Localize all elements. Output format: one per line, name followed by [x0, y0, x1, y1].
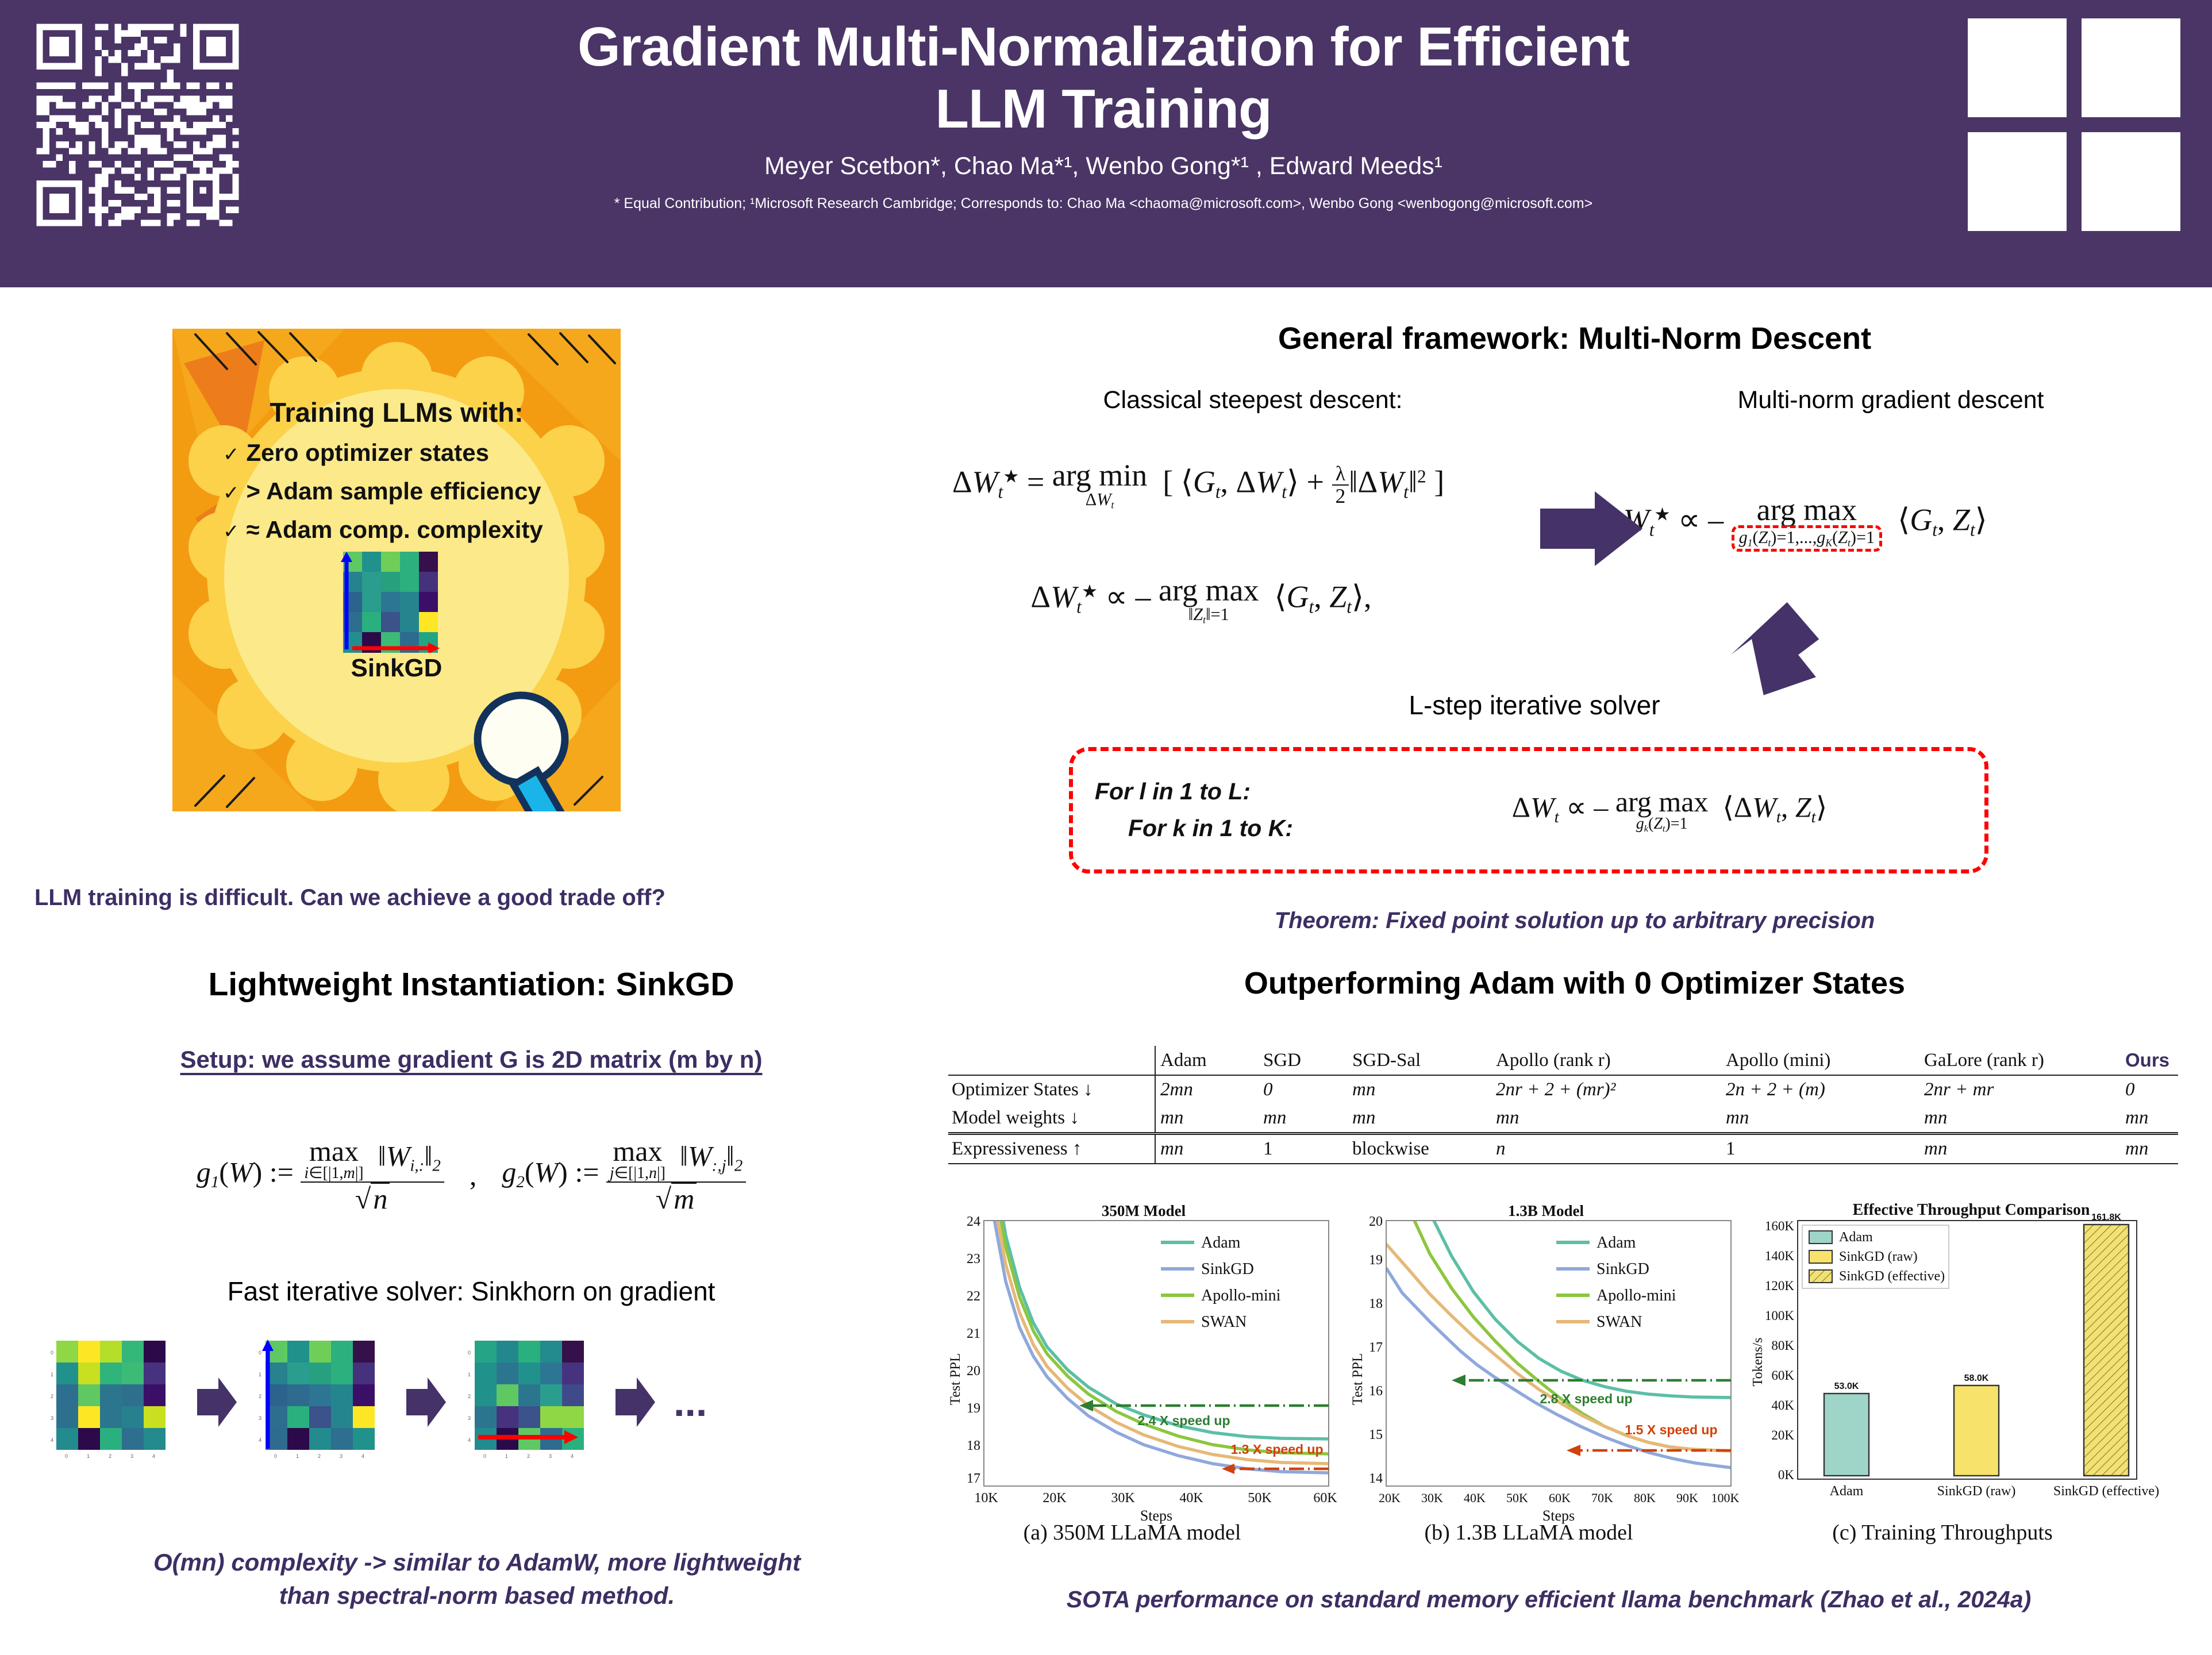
- svg-text:3: 3: [130, 1453, 133, 1459]
- bar-value-sinkgd-effective: 161.8K: [2091, 1213, 2121, 1222]
- cell: mn: [1348, 1104, 1491, 1134]
- svg-text:1: 1: [87, 1453, 90, 1459]
- svg-text:17: 17: [967, 1471, 980, 1486]
- svg-text:0: 0: [468, 1350, 471, 1356]
- logo-square-4: [2082, 132, 2180, 231]
- svg-text:0: 0: [259, 1350, 261, 1356]
- table-header-row: Adam SGD SGD-Sal Apollo (rank r) Apollo …: [948, 1046, 2178, 1075]
- lightweight-section-heading: Lightweight Instantiation: SinkGD: [69, 965, 874, 1003]
- lstep-for-l-label: For l in 1 to L:: [1095, 773, 1376, 810]
- svg-text:4: 4: [51, 1437, 53, 1443]
- sinkgd-caption: SinkGD: [351, 654, 443, 683]
- svg-text:16: 16: [1369, 1384, 1383, 1399]
- comparison-table: Adam SGD SGD-Sal Apollo (rank r) Apollo …: [948, 1046, 2178, 1164]
- svg-text:Apollo-mini: Apollo-mini: [1597, 1287, 1676, 1304]
- row-label-optimizer-states: Optimizer States ↓: [948, 1075, 1155, 1104]
- cell: mn: [1919, 1104, 2121, 1134]
- qr-code-icon[interactable]: [30, 17, 245, 233]
- svg-text:2: 2: [51, 1394, 53, 1399]
- equation-classical-argmax: ΔWt★ ∝ – arg max‖Zt‖=1 ⟨Gt, Zt⟩,: [885, 575, 1517, 625]
- lstep-for-k-label: For k in 1 to K:: [1095, 810, 1376, 847]
- svg-text:160K: 160K: [1765, 1219, 1795, 1233]
- svg-text:SinkGD: SinkGD: [1201, 1260, 1254, 1278]
- cell: mn: [1348, 1075, 1491, 1104]
- svg-text:40K: 40K: [1179, 1491, 1203, 1506]
- series-swan: [1387, 1245, 1731, 1451]
- formula-separator: ,: [470, 1158, 477, 1192]
- g-definitions: g1(W) := maxi∈[|1,m|] ‖Wi,:‖2 √n , g2(W)…: [40, 1109, 902, 1241]
- framework-section-heading: General framework: Multi-Norm Descent: [942, 321, 2207, 356]
- th-galore: GaLore (rank r): [1919, 1046, 2121, 1075]
- series-adam: [1387, 1201, 1731, 1398]
- svg-text:SWAN: SWAN: [1201, 1313, 1247, 1331]
- title-line-1: Gradient Multi-Normalization for Efficie…: [276, 16, 1931, 78]
- theorem-note: Theorem: Fixed point solution up to arbi…: [942, 908, 2207, 934]
- bar-sinkgd-raw: [1954, 1385, 1999, 1476]
- matrix-heatmap-svg: [338, 552, 455, 653]
- title-block: Gradient Multi-Normalization for Efficie…: [276, 6, 1931, 212]
- svg-text:70K: 70K: [1591, 1491, 1613, 1505]
- svg-text:2.4 X speed up: 2.4 X speed up: [1137, 1413, 1230, 1428]
- arrow-right-icon: [613, 1371, 657, 1434]
- comic-bullet-2: ✓> Adam sample efficiency: [213, 478, 580, 505]
- svg-text:2: 2: [468, 1394, 471, 1399]
- svg-text:20K: 20K: [1771, 1428, 1794, 1442]
- g1-formula: g1(W) := maxi∈[|1,m|] ‖Wi,:‖2 √n: [197, 1137, 444, 1214]
- svg-text:SinkGD: SinkGD: [1597, 1260, 1649, 1278]
- svg-text:100K: 100K: [1765, 1308, 1795, 1323]
- svg-text:2: 2: [527, 1453, 530, 1459]
- th-apollo-mini: Apollo (mini): [1721, 1046, 1919, 1075]
- arrow-right-icon: [194, 1371, 239, 1434]
- table-row: Model weights ↓ mn mn mn mn mn mn mn: [948, 1104, 2178, 1134]
- cell: mn: [1155, 1134, 1259, 1164]
- svg-text:15: 15: [1369, 1427, 1383, 1442]
- heatmap-step-1: 012 34 012 34: [46, 1336, 178, 1468]
- svg-text:40K: 40K: [1464, 1491, 1486, 1505]
- cell: 2mn: [1155, 1075, 1259, 1104]
- svg-text:60K: 60K: [1313, 1491, 1337, 1506]
- svg-text:Apollo-mini: Apollo-mini: [1201, 1287, 1281, 1304]
- th-blank: [948, 1046, 1155, 1075]
- svg-text:2: 2: [259, 1394, 261, 1399]
- figure-caption-a: (a) 350M LLaMA model: [971, 1520, 1293, 1545]
- svg-text:22: 22: [967, 1289, 980, 1304]
- cell: blockwise: [1348, 1134, 1491, 1164]
- lstep-solver-box: For l in 1 to L: For k in 1 to K: ΔWt ∝ …: [1069, 747, 1988, 873]
- lstep-equation: ΔWt ∝ – arg maxgk(Zt)=1 ⟨ΔWt, Zt⟩: [1376, 787, 1963, 833]
- affiliation-note: * Equal Contribution; ¹Microsoft Researc…: [276, 195, 1931, 212]
- svg-text:2: 2: [109, 1453, 111, 1459]
- row-label-expressiveness: Expressiveness ↑: [948, 1134, 1155, 1164]
- svg-text:19: 19: [1369, 1253, 1383, 1268]
- svg-text:4: 4: [468, 1437, 471, 1443]
- svg-text:1: 1: [259, 1372, 261, 1377]
- cell: mn: [1721, 1104, 1919, 1134]
- equation-multinorm: ΔWt★ ∝ – arg max g1(Zt)=1,...,gK(Zt)=1 ⟨…: [1603, 494, 2212, 552]
- lstep-solver-label: L-step iterative solver: [1092, 690, 1977, 721]
- svg-text:2: 2: [318, 1453, 321, 1459]
- comic-bullet-3: ✓≈ Adam comp. complexity: [213, 516, 580, 544]
- chart-title: 1.3B Model: [1508, 1202, 1584, 1219]
- cell: 0: [1259, 1075, 1348, 1104]
- left-question-text: LLM training is difficult. Can we achiev…: [34, 885, 931, 911]
- cell: mn: [1155, 1104, 1259, 1134]
- heatmap-step-2: 012 34 012 34: [255, 1336, 387, 1468]
- sinkhorn-iteration-strip: 012 34 012 34: [46, 1333, 897, 1471]
- magnifying-glass-icon: [461, 688, 587, 811]
- comic-bullet-1: ✓Zero optimizer states: [213, 439, 580, 467]
- svg-text:24: 24: [967, 1214, 980, 1229]
- svg-text:90K: 90K: [1676, 1491, 1698, 1505]
- figure-caption-b: (b) 1.3B LLaMA model: [1368, 1520, 1690, 1545]
- table-body: Optimizer States ↓ 2mn 0 mn 2nr + 2 + (m…: [948, 1075, 2178, 1164]
- svg-text:0K: 0K: [1778, 1468, 1795, 1482]
- svg-text:SinkGD (raw): SinkGD (raw): [1839, 1249, 1918, 1264]
- svg-text:Adam: Adam: [1201, 1234, 1241, 1252]
- svg-text:4: 4: [571, 1453, 574, 1459]
- svg-text:SWAN: SWAN: [1597, 1313, 1642, 1331]
- svg-text:23: 23: [967, 1252, 980, 1267]
- poster-header: Gradient Multi-Normalization for Efficie…: [0, 0, 2212, 287]
- svg-text:3: 3: [259, 1415, 261, 1421]
- multinorm-descent-label: Multi-norm gradient descent: [1586, 386, 2195, 414]
- svg-text:4: 4: [361, 1453, 364, 1459]
- page-title: Gradient Multi-Normalization for Efficie…: [276, 6, 1931, 140]
- th-sgd-sal: SGD-Sal: [1348, 1046, 1491, 1075]
- table-head: Adam SGD SGD-Sal Apollo (rank r) Apollo …: [948, 1046, 2178, 1075]
- svg-text:1: 1: [296, 1453, 299, 1459]
- cell: 0: [2121, 1075, 2178, 1104]
- svg-text:19: 19: [967, 1401, 980, 1416]
- fast-solver-label: Fast iterative solver: Sinkhorn on gradi…: [40, 1276, 902, 1307]
- svg-text:SinkGD (effective): SinkGD (effective): [1839, 1269, 1945, 1284]
- svg-text:60K: 60K: [1771, 1368, 1794, 1383]
- svg-text:30K: 30K: [1111, 1491, 1135, 1506]
- equation-classical-steepest: ΔWt★ = arg minΔWt [ ⟨Gt, ΔWt⟩ + λ2‖ΔWt‖2…: [828, 460, 1569, 510]
- microsoft-logo-icon: [1968, 18, 2180, 231]
- svg-text:60K: 60K: [1549, 1491, 1571, 1505]
- svg-text:0: 0: [274, 1453, 277, 1459]
- author-list: Meyer Scetbon*, Chao Ma*¹, Wenbo Gong*¹ …: [276, 152, 1931, 180]
- cell: 2nr + 2 + (mr)²: [1491, 1075, 1721, 1104]
- figure-caption-c: (c) Training Throughputs: [1759, 1520, 2126, 1545]
- x-tick-sinkgd-effective: SinkGD (effective): [2053, 1484, 2159, 1499]
- comic-bullet-1-label: Zero optimizer states: [247, 439, 489, 466]
- cell: 2nr + mr: [1919, 1075, 2121, 1104]
- annotation-2-8x: 2.8 X speed up: [1452, 1375, 1731, 1406]
- svg-text:17: 17: [1369, 1340, 1383, 1355]
- svg-text:0: 0: [65, 1453, 68, 1459]
- svg-text:80K: 80K: [1771, 1338, 1794, 1353]
- svg-text:1: 1: [468, 1372, 471, 1377]
- th-apollo-rank: Apollo (rank r): [1491, 1046, 1721, 1075]
- arrow-right-icon: [403, 1371, 448, 1434]
- check-icon: ✓: [223, 444, 247, 465]
- svg-text:20K: 20K: [1379, 1491, 1401, 1505]
- complexity-line-2: than spectral-norm based method.: [23, 1579, 931, 1612]
- qr-code-svg: [30, 17, 245, 233]
- title-line-2: LLM Training: [276, 78, 1931, 140]
- comic-callout-panel: Training LLMs with: ✓Zero optimizer stat…: [172, 329, 621, 811]
- svg-text:21: 21: [967, 1326, 980, 1341]
- svg-text:14: 14: [1369, 1471, 1383, 1486]
- heatmap-step-3: 012 34 012 34: [464, 1336, 597, 1468]
- setup-note: Setup: we assume gradient G is 2D matrix…: [46, 1046, 897, 1073]
- chart-effective-throughput: Effective Throughput Comparison 160K140K…: [1741, 1201, 2201, 1546]
- chart-legend: Adam SinkGD Apollo-mini SWAN: [1556, 1234, 1676, 1331]
- chart-350m-model: 350M Model 242322 212019 1817 Test PPL 1…: [942, 1201, 1345, 1540]
- th-sgd: SGD: [1259, 1046, 1348, 1075]
- x-tick-sinkgd-raw: SinkGD (raw): [1937, 1484, 2016, 1499]
- cell: 1: [1259, 1134, 1348, 1164]
- svg-text:3: 3: [340, 1453, 343, 1459]
- svg-text:20K: 20K: [1042, 1491, 1067, 1506]
- svg-text:1: 1: [51, 1372, 53, 1377]
- comic-heading: Training LLMs with:: [270, 397, 523, 428]
- logo-square-2: [2082, 18, 2180, 117]
- svg-text:18: 18: [1369, 1296, 1383, 1311]
- series-adam: [984, 1201, 1329, 1439]
- chart-title: Effective Throughput Comparison: [1853, 1201, 2090, 1219]
- cell: mn: [2121, 1104, 2178, 1134]
- comic-bullet-3-label: ≈ Adam comp. complexity: [247, 516, 543, 543]
- g2-formula: g2(W) := maxj∈[|1,n|] ‖W:,j‖2 √m: [502, 1137, 746, 1214]
- cell: mn: [1259, 1104, 1348, 1134]
- svg-text:40K: 40K: [1771, 1398, 1794, 1412]
- bar-value-sinkgd-raw: 58.0K: [1964, 1373, 1989, 1383]
- x-tick-adam: Adam: [1830, 1484, 1864, 1499]
- table-row: Optimizer States ↓ 2mn 0 mn 2nr + 2 + (m…: [948, 1075, 2178, 1104]
- svg-text:120K: 120K: [1765, 1279, 1795, 1293]
- table-row: Expressiveness ↑ mn 1 blockwise n 1 mn m…: [948, 1134, 2178, 1164]
- svg-text:18: 18: [967, 1438, 980, 1453]
- results-section-heading: Outperforming Adam with 0 Optimizer Stat…: [942, 965, 2207, 1001]
- chart-1-3b-model: 1.3B Model 201918 171615 14 Test PPL 20K…: [1345, 1201, 1747, 1540]
- svg-text:30K: 30K: [1421, 1491, 1443, 1505]
- chart-legend: Adam SinkGD (raw) SinkGD (effective): [1802, 1225, 1949, 1288]
- svg-text:4: 4: [259, 1437, 261, 1443]
- cell: 2n + 2 + (m): [1721, 1075, 1919, 1104]
- y-axis-label: Tokens/s: [1751, 1338, 1765, 1387]
- svg-text:3: 3: [549, 1453, 552, 1459]
- classical-descent-label: Classical steepest descent:: [942, 386, 1563, 414]
- magnifier-svg: [461, 688, 587, 811]
- svg-text:10K: 10K: [974, 1491, 998, 1506]
- check-icon: ✓: [223, 521, 247, 542]
- svg-text:80K: 80K: [1634, 1491, 1656, 1505]
- complexity-line-1: O(mn) complexity -> similar to AdamW, mo…: [23, 1546, 931, 1579]
- svg-text:0: 0: [483, 1453, 486, 1459]
- cell: mn: [2121, 1134, 2178, 1164]
- logo-square-1: [1968, 18, 2067, 117]
- bar-adam: [1824, 1394, 1869, 1476]
- row-label-model-weights: Model weights ↓: [948, 1104, 1155, 1134]
- svg-text:1.5 X speed up: 1.5 X speed up: [1625, 1422, 1717, 1437]
- bar-sinkgd-effective: [2084, 1225, 2129, 1476]
- series-apollo-mini: [1387, 1201, 1731, 1451]
- y-axis-label: Test PPL: [1350, 1353, 1365, 1406]
- svg-text:50K: 50K: [1506, 1491, 1528, 1505]
- svg-text:0: 0: [51, 1350, 53, 1356]
- cell: mn: [1491, 1104, 1721, 1134]
- ellipsis-label: ...: [674, 1392, 707, 1412]
- svg-text:Adam: Adam: [1839, 1230, 1873, 1245]
- sota-note: SOTA performance on standard memory effi…: [885, 1586, 2212, 1613]
- svg-text:100K: 100K: [1711, 1491, 1740, 1505]
- svg-text:2.8 X speed up: 2.8 X speed up: [1540, 1391, 1632, 1406]
- cell: 1: [1721, 1134, 1919, 1164]
- svg-text:1: 1: [505, 1453, 508, 1459]
- y-axis-label: Test PPL: [948, 1353, 963, 1406]
- figure-row: 350M Model 242322 212019 1817 Test PPL 1…: [942, 1201, 2207, 1546]
- svg-text:3: 3: [468, 1415, 471, 1421]
- svg-text:20: 20: [1369, 1214, 1383, 1229]
- svg-text:4: 4: [152, 1453, 155, 1459]
- svg-text:140K: 140K: [1765, 1249, 1795, 1263]
- svg-text:20: 20: [967, 1364, 980, 1379]
- chart-legend: Adam SinkGD Apollo-mini SWAN: [1161, 1234, 1281, 1331]
- cell: n: [1491, 1134, 1721, 1164]
- th-ours: Ours: [2121, 1046, 2178, 1075]
- th-adam: Adam: [1155, 1046, 1259, 1075]
- chart-title: 350M Model: [1102, 1202, 1186, 1219]
- gradient-matrix-thumbnail: [338, 552, 455, 653]
- comic-bullet-2-label: > Adam sample efficiency: [247, 478, 541, 505]
- svg-text:Adam: Adam: [1597, 1234, 1636, 1252]
- check-icon: ✓: [223, 482, 247, 504]
- constraint-highlight-box: g1(Zt)=1,...,gK(Zt)=1: [1732, 525, 1883, 552]
- svg-text:50K: 50K: [1248, 1491, 1272, 1506]
- svg-text:1.3 X speed up: 1.3 X speed up: [1230, 1442, 1323, 1457]
- complexity-note: O(mn) complexity -> similar to AdamW, mo…: [23, 1546, 931, 1612]
- bar-value-adam: 53.0K: [1834, 1381, 1859, 1391]
- arrow-right-icon: [1540, 486, 1644, 572]
- cell: mn: [1919, 1134, 2121, 1164]
- logo-square-3: [1968, 132, 2067, 231]
- svg-text:3: 3: [51, 1415, 53, 1421]
